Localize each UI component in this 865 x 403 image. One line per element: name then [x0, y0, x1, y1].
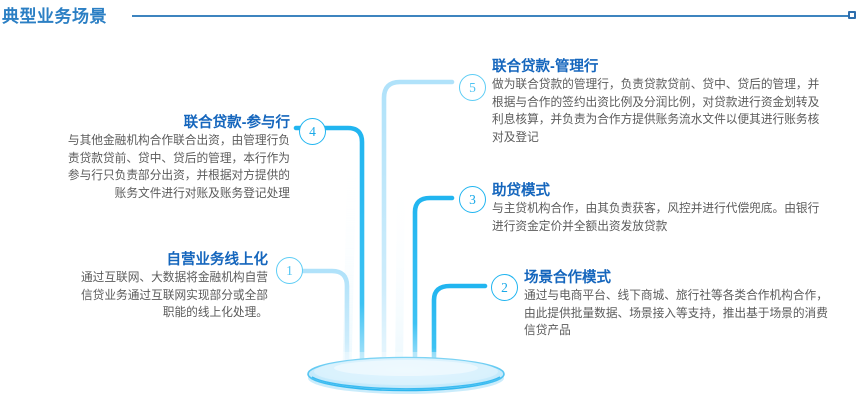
item-body-3: 与主贷机构合作，由其负责获客，风控并进行代偿兜底。由银行进行资金定价并全额出资发…: [492, 200, 828, 235]
item-block-4: 联合贷款-参与行 与其他金融机构合作联合出资，由管理行负责贷款贷前、贷中、贷后的…: [60, 114, 290, 202]
base-dish-icon: [308, 358, 504, 395]
item-title-5: 联合贷款-管理行: [492, 58, 828, 76]
item-block-1: 自营业务线上化 通过互联网、大数据将金融机构自营信贷业务通过互联网实现部分或全部…: [78, 251, 268, 322]
node-badge-4[interactable]: 4: [299, 118, 326, 145]
square-endpoint-icon: [848, 11, 856, 19]
page-header: 典型业务场景: [0, 2, 865, 30]
item-block-2: 场景合作模式 通过与电商平台、线下商城、旅行社等各类合作机构合作，由此提供批量数…: [524, 269, 829, 340]
item-title-2: 场景合作模式: [524, 269, 829, 287]
item-body-4: 与其他金融机构合作联合出资，由管理行负责贷款贷前、贷中、贷后的管理，本行作为参与…: [60, 132, 290, 202]
stem-path-4: [296, 128, 362, 372]
item-block-3: 助贷模式 与主贷机构合作，由其负责获客，风控并进行代偿兜底。由银行进行资金定价并…: [492, 182, 828, 235]
item-title-4: 联合贷款-参与行: [60, 114, 290, 132]
node-badge-1[interactable]: 1: [276, 257, 303, 284]
stem-path-3: [415, 198, 452, 372]
header-divider-line: [132, 15, 850, 17]
page-title: 典型业务场景: [2, 2, 107, 27]
infographic-canvas: 典型业务场景: [0, 0, 865, 403]
item-body-2: 通过与电商平台、线下商城、旅行社等各类合作机构合作，由此提供批量数据、场景接入等…: [524, 287, 829, 340]
stem-path-1: [303, 271, 347, 372]
item-title-3: 助贷模式: [492, 182, 828, 200]
node-badge-2[interactable]: 2: [491, 274, 518, 301]
item-body-1: 通过互联网、大数据将金融机构自营信贷业务通过互联网实现部分或全部职能的线上化处理…: [78, 269, 268, 322]
stem-path-2: [434, 286, 485, 372]
item-title-1: 自营业务线上化: [78, 251, 268, 269]
item-block-5: 联合贷款-管理行 做为联合贷款的管理行，负责贷款贷前、贷中、贷后的管理，并根据与…: [492, 58, 828, 146]
node-badge-5[interactable]: 5: [459, 74, 486, 101]
node-badge-3[interactable]: 3: [459, 186, 486, 213]
stem-glow-group: [347, 150, 401, 372]
stem-path-5: [384, 82, 452, 372]
item-body-5: 做为联合贷款的管理行，负责贷款贷前、贷中、贷后的管理，并根据与合作的签约出资比例…: [492, 76, 828, 146]
